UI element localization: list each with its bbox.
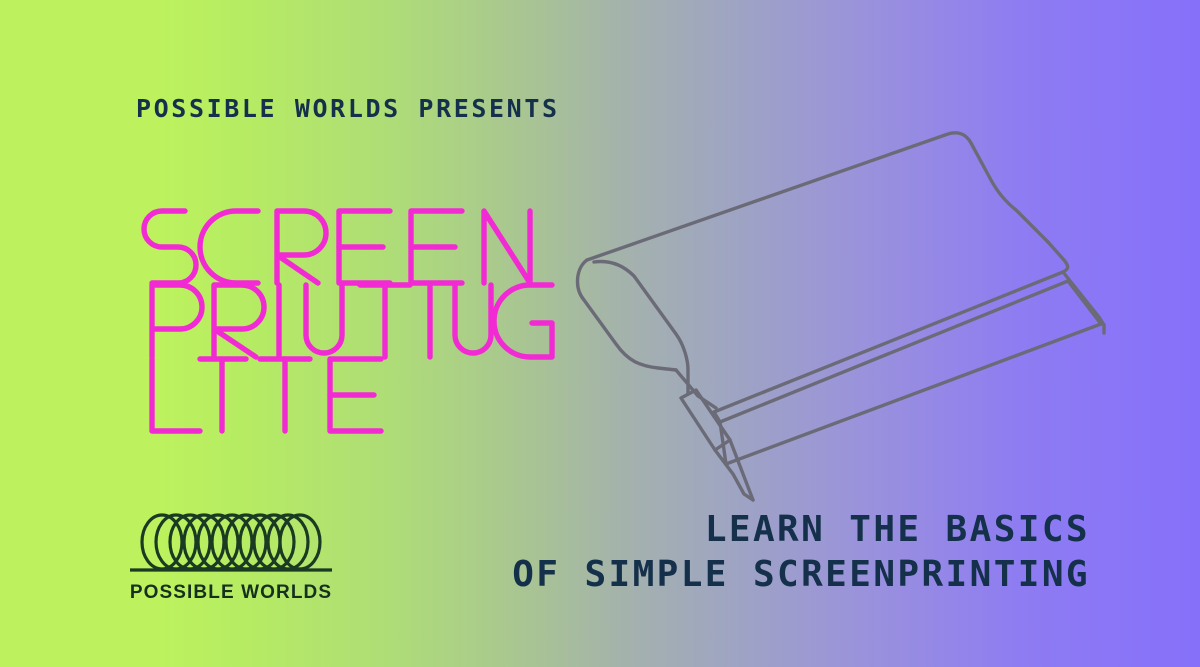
title-line-printing [152,285,552,357]
squeegee-blade-right-cap-inner [1068,281,1101,324]
presenter-eyebrow: POSSIBLE WORLDS PRESENTS [136,94,560,123]
brand-logo: POSSIBLE WORLDS [126,508,336,608]
tagline-line-1: LEARN THE BASICS [512,508,1090,553]
squeegee-right-shoulder [1048,242,1068,272]
squeegee-handle-inner-edge [594,262,688,394]
tagline-line-2: OF SIMPLE SCREENPRINTING [512,553,1090,598]
logo-wordmark: POSSIBLE WORLDS [126,582,336,604]
tagline-block: LEARN THE BASICS OF SIMPLE SCREENPRINTIN… [512,508,1090,597]
squeegee-blade-top-back [714,272,1063,412]
poster-canvas: POSSIBLE WORLDS PRESENTS SCREEN PRINTING… [0,0,1200,667]
title-line-screen [144,211,530,283]
main-title-lettering: SCREEN PRINTING LITE [138,205,558,431]
squeegee-illustration: screenprinting-squeegee [548,112,1118,502]
title-line-lite [152,359,381,431]
coil-rings-icon [126,508,336,580]
squeegee-handle-top-edge [587,133,1048,260]
